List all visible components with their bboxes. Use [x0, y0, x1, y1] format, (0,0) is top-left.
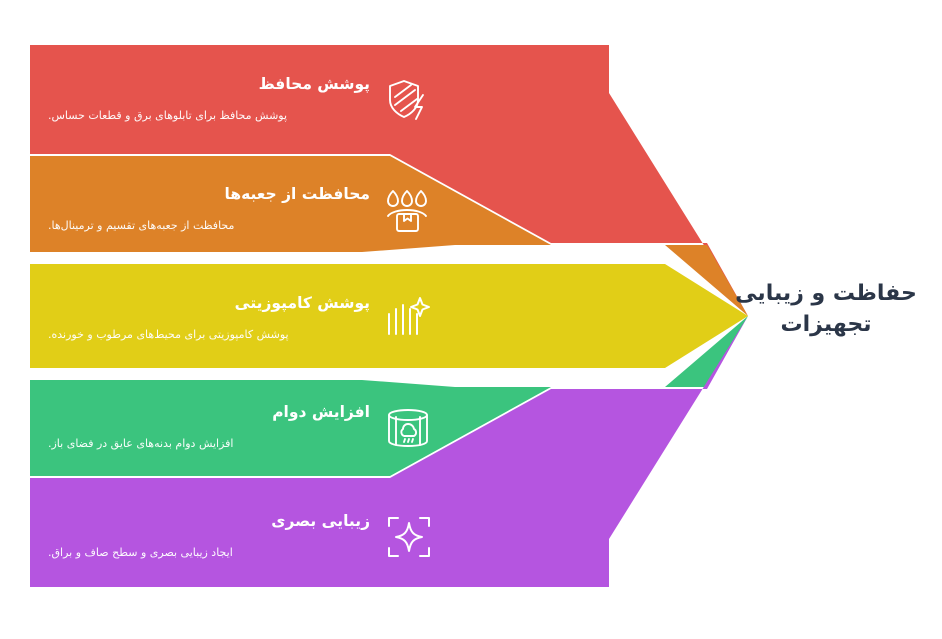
composite-layers-sparkle-icon — [378, 288, 440, 350]
feature-row-box-protection[interactable]: محافظت از جعبه‌ها محافظت از جعبه‌های تقس… — [30, 155, 450, 264]
feature-description: افزایش دوام بدنه‌های عایق در فضای باز. — [48, 437, 233, 452]
feature-row-visual-beauty[interactable]: زیبایی بصری ایجاد زیبایی بصری و سطح صاف … — [30, 482, 450, 591]
shield-bolt-icon — [378, 69, 440, 131]
feature-title: پوشش محافظ — [259, 75, 370, 94]
feature-text-block: محافظت از جعبه‌ها محافظت از جعبه‌های تقس… — [48, 185, 374, 233]
sparkle-frame-icon — [378, 506, 440, 568]
feature-title: محافظت از جعبه‌ها — [225, 185, 371, 204]
feature-text-block: پوشش محافظ پوشش محافظ برای تابلوهای برق … — [48, 75, 374, 123]
weather-durability-icon — [378, 397, 440, 459]
feature-title: پوشش کامپوزیتی — [235, 294, 370, 313]
feature-description: ایجاد زیبایی بصری و سطح صاف و براق. — [48, 546, 233, 561]
page-title: حفاظت و زیبایی تجهیزات — [728, 278, 924, 340]
feature-title: زیبایی بصری — [271, 512, 370, 531]
feature-row-durability[interactable]: افزایش دوام افزایش دوام بدنه‌های عایق در… — [30, 373, 450, 482]
feature-text-block: زیبایی بصری ایجاد زیبایی بصری و سطح صاف … — [48, 512, 374, 560]
feature-description: پوشش محافظ برای تابلوهای برق و قطعات حسا… — [48, 109, 287, 124]
waterproof-box-icon — [378, 179, 440, 241]
feature-description: پوشش کامپوزیتی برای محیط‌های مرطوب و خور… — [48, 328, 289, 343]
infographic-canvas: پوشش محافظ پوشش محافظ برای تابلوهای برق … — [0, 0, 942, 639]
feature-text-block: افزایش دوام افزایش دوام بدنه‌های عایق در… — [48, 403, 374, 451]
feature-description: محافظت از جعبه‌های تقسیم و ترمینال‌ها. — [48, 219, 234, 234]
feature-text-block: پوشش کامپوزیتی پوشش کامپوزیتی برای محیط‌… — [48, 294, 374, 342]
feature-title: افزایش دوام — [272, 403, 370, 422]
feature-row-protective-coating[interactable]: پوشش محافظ پوشش محافظ برای تابلوهای برق … — [30, 45, 450, 154]
feature-row-composite-coating[interactable]: پوشش کامپوزیتی پوشش کامپوزیتی برای محیط‌… — [30, 264, 450, 373]
